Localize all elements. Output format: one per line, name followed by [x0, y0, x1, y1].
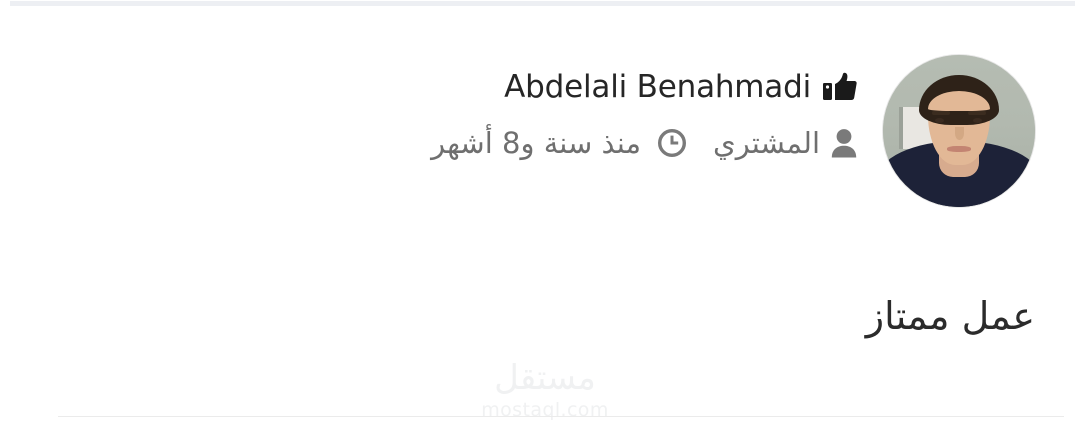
review-time-label: منذ سنة و8 أشهر — [431, 126, 641, 160]
review-card: Abdelali Benahmadi المشتري — [0, 6, 1079, 410]
avatar-eyebrow-left — [932, 111, 950, 115]
avatar-hair — [919, 75, 999, 125]
avatar-photo — [883, 55, 1035, 207]
avatar-eye-left — [935, 118, 944, 123]
review-header: Abdelali Benahmadi المشتري — [431, 55, 1035, 207]
person-icon — [831, 128, 857, 158]
watermark: مستقل mostaql.com — [455, 361, 635, 421]
watermark-domain-text: mostaql.com — [455, 399, 635, 421]
thumbs-up-icon — [823, 72, 857, 103]
reviewer-name-row: Abdelali Benahmadi — [504, 70, 857, 104]
reviewer-avatar[interactable] — [883, 55, 1035, 207]
avatar-eyebrow-right — [968, 111, 986, 115]
review-body: عمل ممتاز — [55, 293, 1035, 341]
reviewer-role-label: المشتري — [713, 126, 820, 160]
reviewer-meta: Abdelali Benahmadi المشتري — [431, 55, 857, 160]
reviewer-name[interactable]: Abdelali Benahmadi — [504, 70, 811, 104]
clock-icon — [657, 128, 687, 158]
avatar-eye-right — [973, 118, 982, 123]
avatar-nose — [955, 127, 964, 140]
watermark-logo-text: مستقل — [455, 361, 635, 395]
review-text: عمل ممتاز — [866, 294, 1035, 338]
reviewer-subinfo-row: المشتري منذ سنة و8 أشهر — [431, 126, 857, 160]
avatar-mouth — [947, 146, 971, 152]
